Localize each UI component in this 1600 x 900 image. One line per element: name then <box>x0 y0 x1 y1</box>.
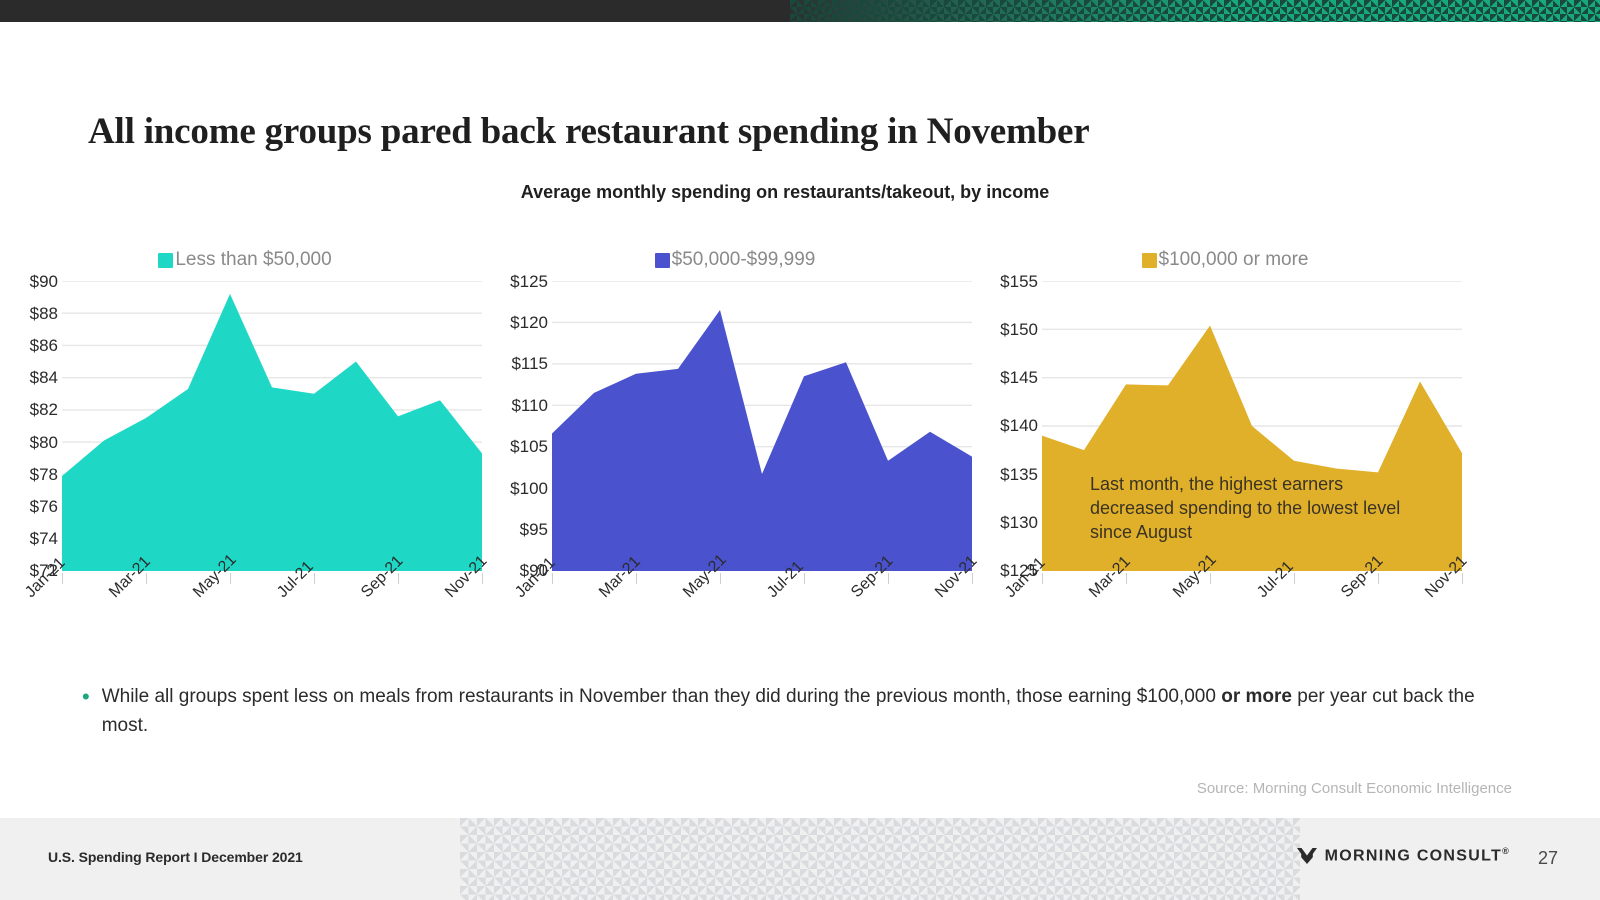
bullet-text-emphasis: or more <box>1221 686 1292 707</box>
legend-label: $100,000 or more <box>1159 249 1309 271</box>
x-axis-tickmark <box>552 573 553 584</box>
area-series <box>552 310 972 571</box>
chart-body: $155$150$145$140$135$130$125 Jan-21Mar-2… <box>980 281 1470 571</box>
brand-logo-wordmark: MORNING CONSULT <box>1325 847 1502 864</box>
morning-consult-chevron-icon <box>1297 848 1317 864</box>
legend-label: $50,000-$99,999 <box>672 249 816 271</box>
x-axis-tickmark <box>482 573 483 584</box>
x-axis-tickmark <box>972 573 973 584</box>
x-axis-tickmark <box>804 573 805 584</box>
y-axis: $155$150$145$140$135$130$125 <box>980 281 1038 571</box>
brand-logo-text: MORNING CONSULT® <box>1325 846 1510 865</box>
chart-legend: Less than $50,000 <box>0 245 490 275</box>
plot-area <box>62 281 482 571</box>
chart-body: $125$120$115$110$105$100$95$90 Jan-21Mar… <box>490 281 980 571</box>
x-axis-tickmark <box>1126 573 1127 584</box>
x-axis: Jan-21Mar-21May-21Jul-21Sep-21Nov-21 <box>552 573 972 643</box>
registered-trademark-icon: ® <box>1502 846 1510 856</box>
source-attribution: Source: Morning Consult Economic Intelli… <box>1197 780 1512 797</box>
top-decorative-banner <box>0 0 1600 22</box>
x-axis-tickmark <box>1042 573 1043 584</box>
chart-body: $90$88$86$84$82$80$78$76$74$72 Jan-21Mar… <box>0 281 490 571</box>
legend-swatch-icon <box>158 253 173 268</box>
x-axis-tickmark <box>1378 573 1379 584</box>
x-axis-tickmark <box>314 573 315 584</box>
x-axis-tickmark <box>888 573 889 584</box>
x-axis-tickmark <box>62 573 63 584</box>
plot-area <box>552 281 972 571</box>
footer-bar: U.S. Spending Report I December 2021 MOR… <box>0 818 1600 900</box>
y-axis: $90$88$86$84$82$80$78$76$74$72 <box>0 281 58 571</box>
brand-logo: MORNING CONSULT® <box>1297 846 1510 865</box>
bullet-text-lead: While all groups spent less on meals fro… <box>102 686 1222 707</box>
x-axis-tickmark <box>636 573 637 584</box>
page-title: All income groups pared back restaurant … <box>88 110 1388 153</box>
bullet-list: • While all groups spent less on meals f… <box>82 682 1482 741</box>
banner-diamond-pattern <box>790 0 1600 22</box>
x-axis-tickmark <box>398 573 399 584</box>
legend-label: Less than $50,000 <box>175 249 331 271</box>
y-axis: $125$120$115$110$105$100$95$90 <box>490 281 548 571</box>
footer-report-label: U.S. Spending Report I December 2021 <box>48 849 303 865</box>
chart-annotation: Last month, the highest earners decrease… <box>1090 473 1420 544</box>
legend-swatch-icon <box>655 253 670 268</box>
x-axis-tickmark <box>1210 573 1211 584</box>
x-axis: Jan-21Mar-21May-21Jul-21Sep-21Nov-21 <box>62 573 482 643</box>
area-series <box>62 294 482 571</box>
x-axis-tickmark <box>1294 573 1295 584</box>
x-axis-tickmark <box>146 573 147 584</box>
legend-swatch-icon <box>1142 253 1157 268</box>
chart-legend: $100,000 or more <box>980 245 1470 275</box>
charts-row: Less than $50,000$90$88$86$84$82$80$78$7… <box>0 245 1570 645</box>
banner-dark-segment <box>0 0 790 22</box>
chart-3: $100,000 or more$155$150$145$140$135$130… <box>980 245 1470 645</box>
chart-2: $50,000-$99,999$125$120$115$110$105$100$… <box>490 245 980 645</box>
charts-section-header: Average monthly spending on restaurants/… <box>0 182 1570 203</box>
x-axis-tickmark <box>720 573 721 584</box>
x-axis-tickmark <box>230 573 231 584</box>
footer-diamond-pattern <box>460 818 1300 900</box>
bullet-dot-icon: • <box>82 682 90 741</box>
page-number: 27 <box>1538 848 1558 869</box>
bullet-item-text: While all groups spent less on meals fro… <box>102 682 1482 741</box>
chart-legend: $50,000-$99,999 <box>490 245 980 275</box>
x-axis: Jan-21Mar-21May-21Jul-21Sep-21Nov-21 <box>1042 573 1462 643</box>
chart-1: Less than $50,000$90$88$86$84$82$80$78$7… <box>0 245 490 645</box>
x-axis-tickmark <box>1462 573 1463 584</box>
